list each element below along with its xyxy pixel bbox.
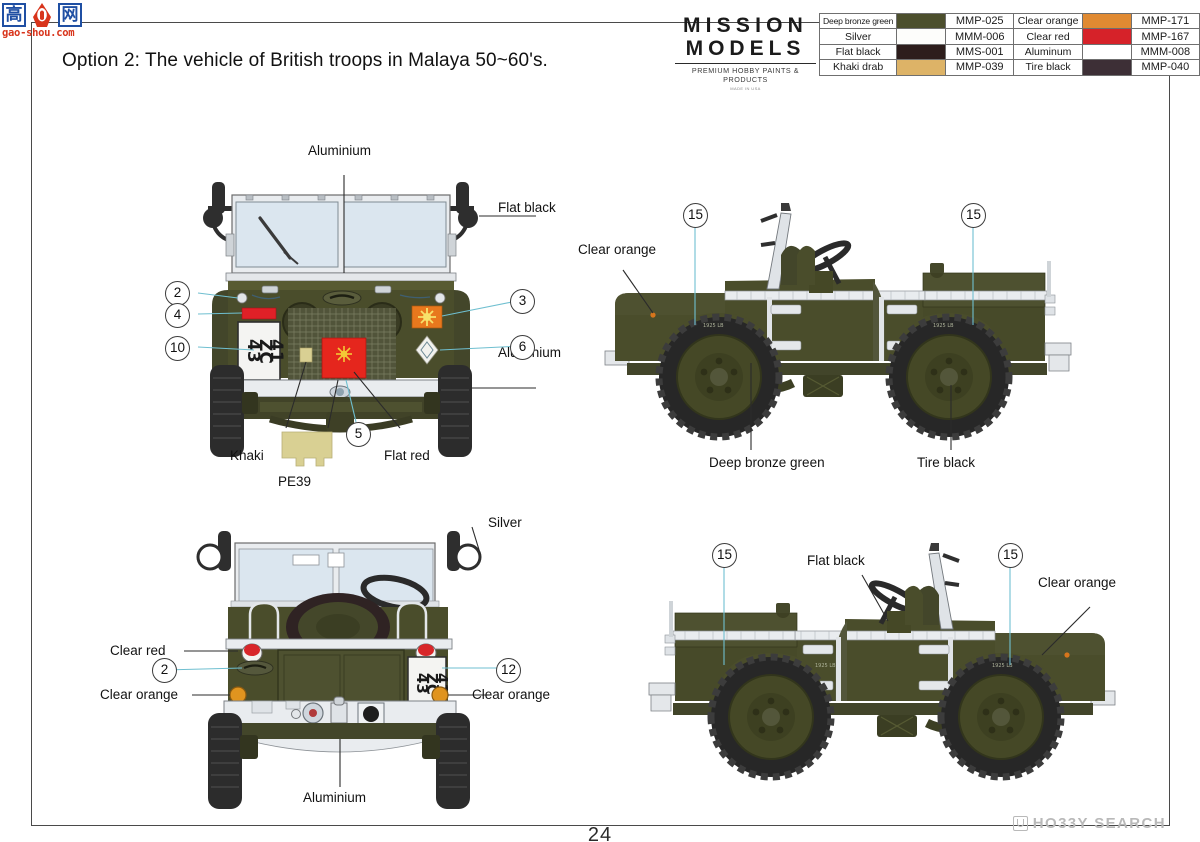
red-square-star-icon [336, 346, 352, 362]
callout-4[interactable]: 4 [165, 303, 190, 328]
pe39-part-illustration [282, 432, 332, 466]
pe39-part-mounted [300, 348, 312, 362]
label-flat-black: Flat black [498, 200, 556, 215]
label-clear-orange: Clear orange [578, 242, 656, 257]
gaoshou-char2: 网 [58, 3, 82, 27]
body-stencil-rear-left: 1925 LB [815, 663, 836, 669]
paint-code: MMP-025 [946, 14, 1014, 29]
tyre-rear-left [208, 713, 242, 809]
mission-models-logo: MISSION MODELS PREMIUM HOBBY PAINTS & PR… [673, 14, 818, 78]
paint-code: MMS-001 [946, 44, 1014, 59]
brand-line1: MISSION [673, 14, 818, 37]
label-silver: Silver [488, 515, 522, 530]
label-aluminium-bottom: Aluminium [303, 790, 366, 805]
brand-tagline: PREMIUM HOBBY PAINTS & PRODUCTS [673, 66, 818, 84]
paint-swatch [897, 29, 946, 44]
tail-lamp-left [242, 644, 262, 662]
tyre-front-left [210, 365, 244, 457]
paint-swatch [1082, 60, 1131, 75]
paint-code: MMP-167 [1131, 29, 1199, 44]
decal-red-strip [242, 308, 276, 319]
brand-fineprint: MADE IN USA [673, 86, 818, 91]
paint-name: Aluminum [1014, 44, 1083, 59]
paint-swatch [897, 44, 946, 59]
brand-rule [675, 63, 816, 64]
body-stencil-rear: 1925 LB [933, 323, 954, 329]
callout-6[interactable]: 6 [510, 335, 535, 360]
gaoshou-glyph-row: 高 网 [2, 1, 94, 29]
side-view-right: 1925 LB 1925 LB 15 15 Clear orange Deep … [575, 185, 1135, 485]
side-view-right-drawing: 1925 LB 1925 LB [575, 185, 1135, 485]
callout-15-front[interactable]: 15 [683, 203, 708, 228]
rear-view: 43 ZC 41 [100, 505, 580, 815]
table-row: Deep bronze green MMP-025 Clear orange M… [820, 14, 1200, 29]
paint-name: Tire black [1014, 60, 1083, 75]
label-clear-orange-left: Clear orange [100, 687, 178, 702]
callout-10[interactable]: 10 [165, 336, 190, 361]
callout-15-b[interactable]: 15 [998, 543, 1023, 568]
label-tire-black: Tire black [917, 455, 975, 470]
side-view-left-drawing: 1925 LB 1925 LB [600, 525, 1145, 815]
callout-15-rear[interactable]: 15 [961, 203, 986, 228]
label-flat-black-side: Flat black [807, 553, 865, 568]
mirror-left [203, 182, 234, 240]
label-clear-red: Clear red [110, 643, 166, 658]
label-flat-red: Flat red [384, 448, 430, 463]
tyre-rear-right [436, 713, 470, 809]
paint-name: Clear red [1014, 29, 1083, 44]
table-row: Flat black MMS-001 Aluminum MMM-008 [820, 44, 1200, 59]
paint-name: Clear orange [1014, 14, 1083, 29]
mirror-right [448, 182, 478, 240]
label-clear-orange-right: Clear orange [472, 687, 550, 702]
paint-swatch [1082, 44, 1131, 59]
hobby-search-label: HO33Y SEARCH [1033, 815, 1166, 832]
side-view-left: 1925 LB 1925 LB 15 15 Flat black Clear o… [600, 525, 1145, 815]
paint-swatch [1082, 29, 1131, 44]
label-clear-orange-side: Clear orange [1038, 575, 1116, 590]
tow-eye [330, 386, 350, 398]
label-deep-bronze-green: Deep bronze green [709, 455, 825, 470]
callout-2-rear[interactable]: 2 [152, 658, 177, 683]
brand-line2: MODELS [673, 37, 818, 60]
paint-swatch [1082, 14, 1131, 29]
paint-color-table: Deep bronze green MMP-025 Clear orange M… [819, 13, 1200, 76]
mirror-left-rear [198, 531, 231, 571]
body-stencil-front: 1925 LB [703, 323, 724, 329]
paint-name: Flat black [820, 44, 897, 59]
callout-5[interactable]: 5 [346, 422, 371, 447]
paint-code: MMM-006 [946, 29, 1014, 44]
page-title: Option 2: The vehicle of British troops … [62, 50, 548, 72]
callout-3[interactable]: 3 [510, 289, 535, 314]
paint-code: MMP-040 [1131, 60, 1199, 75]
label-pe39: PE39 [278, 474, 311, 489]
paint-name: Silver [820, 29, 897, 44]
table-row: Khaki drab MMP-039 Tire black MMP-040 [820, 60, 1200, 75]
paint-code: MMP-171 [1131, 14, 1199, 29]
svg-text:41: 41 [266, 339, 286, 363]
wheel-front [659, 317, 779, 437]
paint-swatch [897, 60, 946, 75]
paint-name: Deep bronze green [820, 14, 897, 29]
watermark-gaoshou: 高 网 gao-shou.com [2, 1, 94, 48]
paint-swatch [897, 14, 946, 29]
paint-code: MMP-039 [946, 60, 1014, 75]
wheel-rear [889, 317, 1009, 437]
instruction-page: 高 网 gao-shou.com Option 2: The vehicle o… [0, 0, 1200, 842]
callout-15-a[interactable]: 15 [712, 543, 737, 568]
tyre-front-right [438, 365, 472, 457]
bookmark-icon [1013, 816, 1028, 831]
paint-name: Khaki drab [820, 60, 897, 75]
front-view: 43 ZC 41 [150, 140, 580, 490]
gaoshou-thumb-icon [27, 1, 57, 29]
callout-12[interactable]: 12 [496, 658, 521, 683]
label-aluminium-top: Aluminium [308, 143, 371, 158]
gaoshou-char1: 高 [2, 3, 26, 27]
label-khaki: Khaki [230, 448, 264, 463]
watermark-hobby-search: HO33Y SEARCH [1013, 815, 1166, 832]
paint-code: MMM-008 [1131, 44, 1199, 59]
table-row: Silver MMM-006 Clear red MMP-167 [820, 29, 1200, 44]
